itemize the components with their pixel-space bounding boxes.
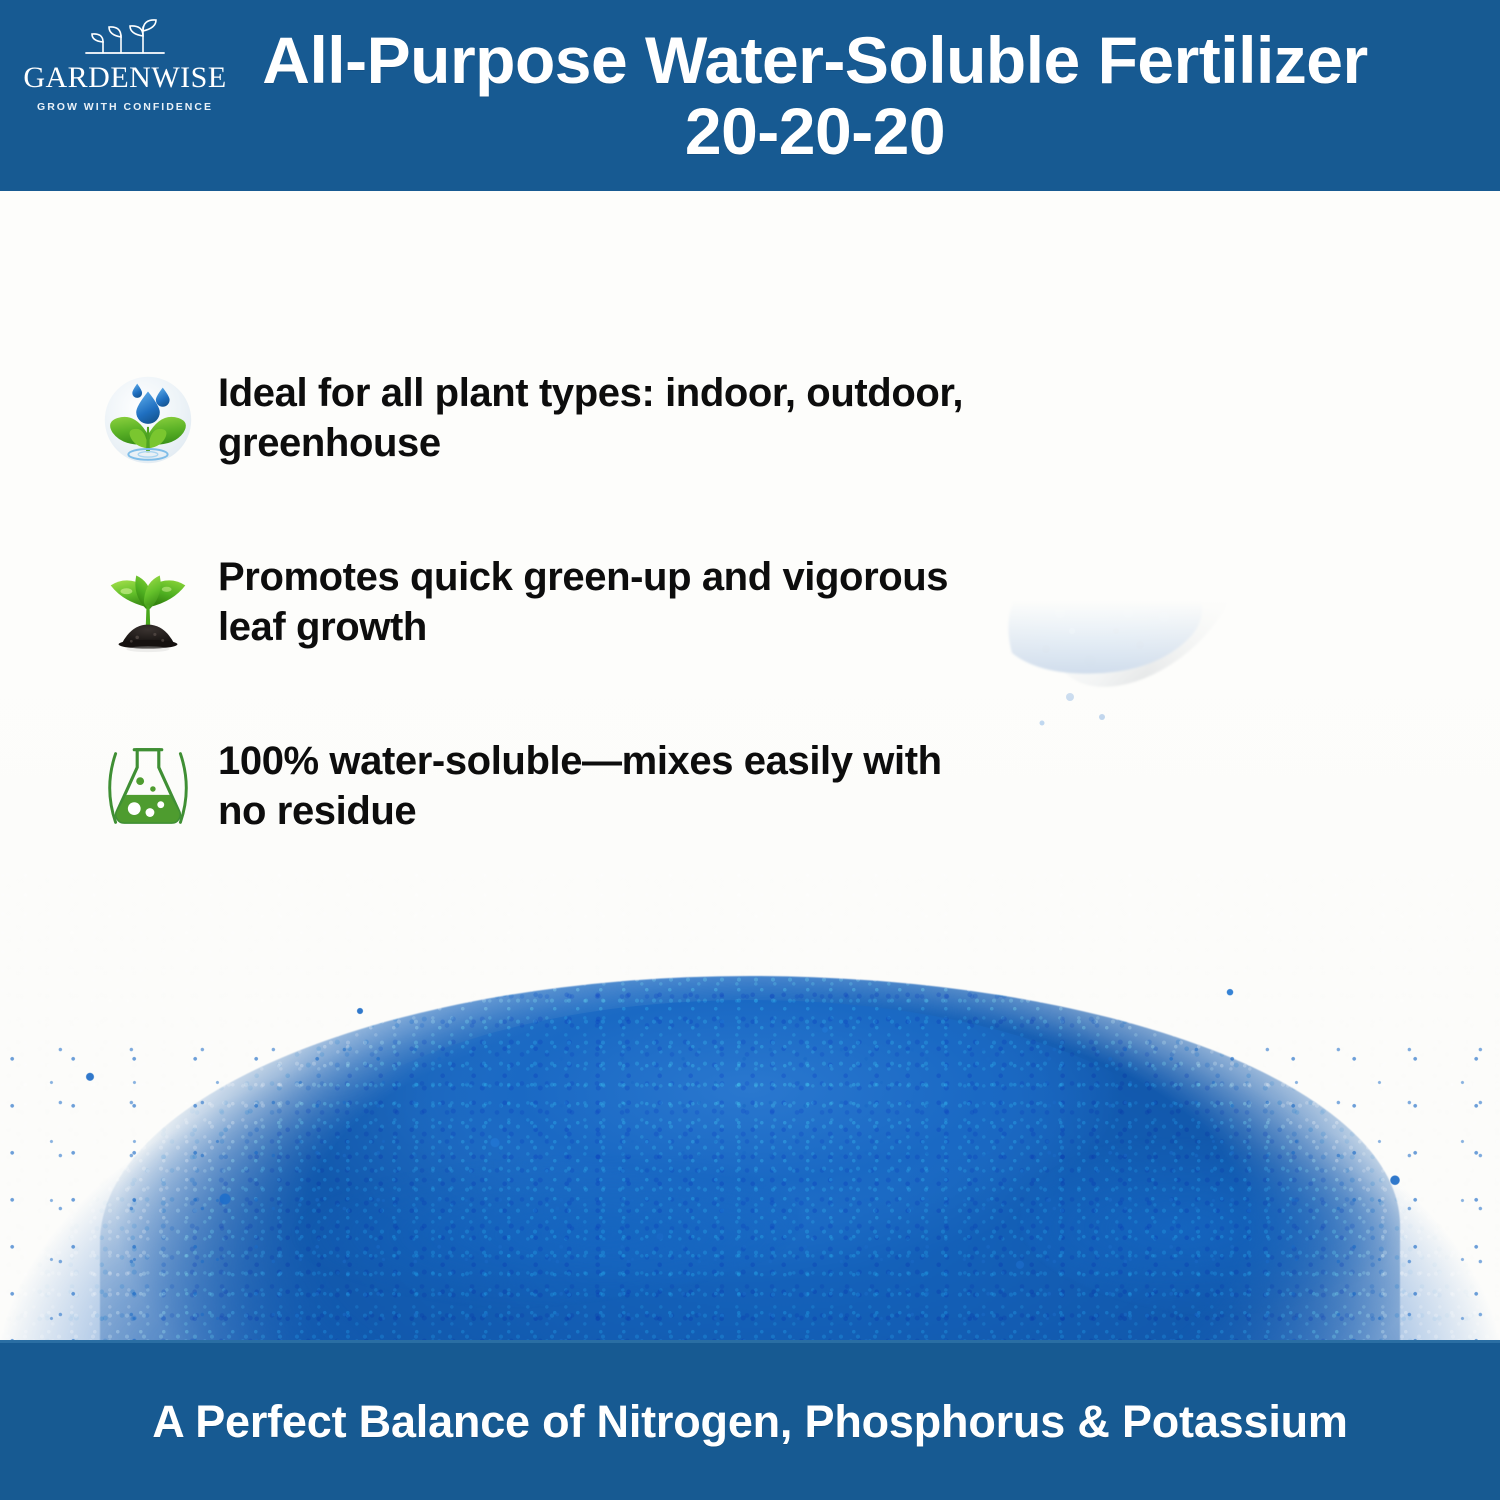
feature-item: Promotes quick green-up and vigorous lea… [78, 546, 978, 662]
feature-icon-slot [78, 730, 218, 846]
feature-text: 100% water-soluble—mixes easily with no … [218, 730, 978, 837]
seedling-soil-icon [94, 550, 202, 658]
footer-banner: A Perfect Balance of Nitrogen, Phosphoru… [0, 1340, 1500, 1500]
product-feature-poster: GARDENWISE GROW WITH CONFIDENCE All-Purp… [0, 0, 1500, 1500]
brand-name: GARDENWISE [23, 62, 226, 94]
sprout-leaves-icon [50, 14, 200, 60]
leaf-water-drop-icon [94, 366, 202, 474]
page-title: All-Purpose Water-Soluble Fertilizer 20-… [250, 25, 1500, 166]
feature-text: Ideal for all plant types: indoor, outdo… [218, 362, 978, 469]
feature-icon-slot [78, 546, 218, 662]
feature-list: Ideal for all plant types: indoor, outdo… [78, 362, 978, 846]
flask-solution-icon [94, 734, 202, 842]
feature-item: Ideal for all plant types: indoor, outdo… [78, 362, 978, 478]
feature-text: Promotes quick green-up and vigorous lea… [218, 546, 978, 653]
brand-tagline: GROW WITH CONFIDENCE [37, 101, 213, 113]
scattered-fine-granules [0, 1040, 1500, 1340]
feature-item: 100% water-soluble—mixes easily with no … [78, 730, 978, 846]
brand-logo: GARDENWISE GROW WITH CONFIDENCE [0, 0, 250, 191]
footer-tagline: A Perfect Balance of Nitrogen, Phosphoru… [152, 1396, 1347, 1448]
product-photo: Ideal for all plant types: indoor, outdo… [0, 191, 1500, 1340]
header-banner: GARDENWISE GROW WITH CONFIDENCE All-Purp… [0, 0, 1500, 191]
feature-icon-slot [78, 362, 218, 478]
